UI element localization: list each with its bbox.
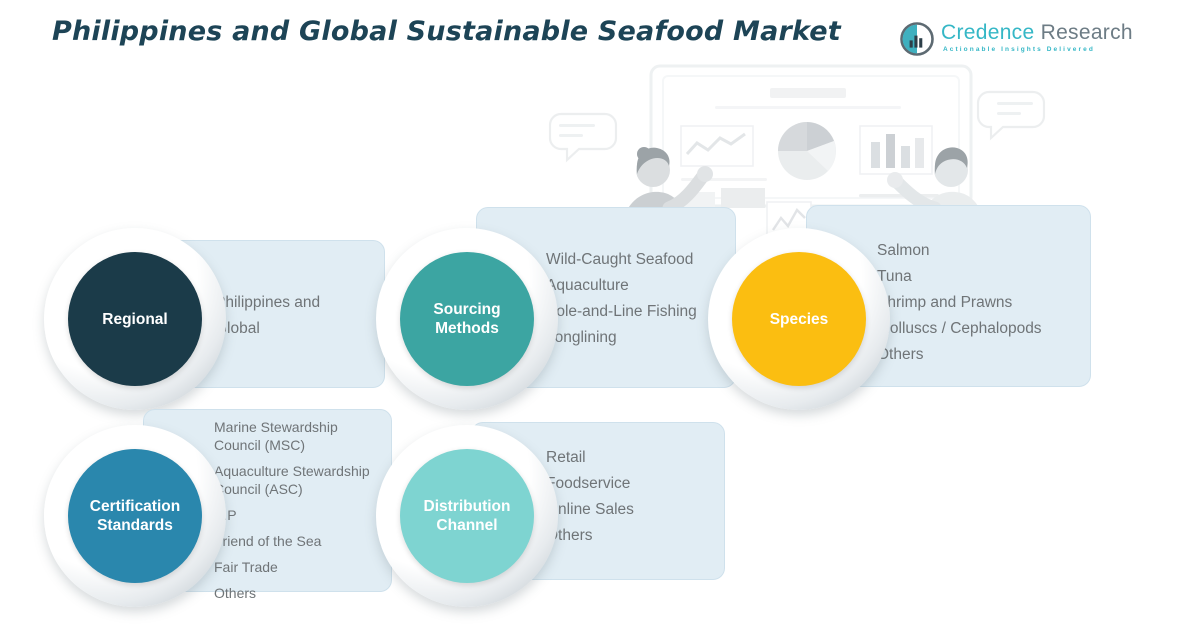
card-list-species: Salmon Tuna Shrimp and Prawns Molluscs /… [877, 238, 1092, 368]
brand-logo: Credence Research Actionable Insights De… [900, 20, 1095, 62]
list-item: Global [215, 316, 385, 342]
page-title: Philippines and Global Sustainable Seafo… [52, 16, 841, 47]
bar-chart-circle-icon [900, 22, 934, 56]
list-item: Others [877, 342, 1092, 368]
list-item: Foodservice [546, 471, 736, 497]
bubble-certification-standards-circle[interactable]: Certification Standards [68, 449, 202, 583]
list-item: Others [546, 523, 736, 549]
infographic-canvas: Philippines and Global Sustainable Seafo… [0, 0, 1180, 626]
logo-tagline: Actionable Insights Delivered [943, 46, 1095, 53]
list-item: Retail [546, 445, 736, 471]
bubble-species-circle[interactable]: Species [732, 252, 866, 386]
list-item: Philippines and [215, 290, 385, 316]
list-item: Online Sales [546, 497, 736, 523]
bubble-distribution-channel[interactable]: Distribution Channel [376, 425, 558, 607]
bubble-regional[interactable]: Regional [44, 228, 226, 410]
list-item: Shrimp and Prawns [877, 290, 1092, 316]
bubble-sourcing-methods-circle[interactable]: Sourcing Methods [400, 252, 534, 386]
bubble-label: Regional [102, 310, 167, 329]
bubble-label: Distribution [424, 497, 511, 516]
logo-word-research: Research [1041, 21, 1133, 44]
bubble-certification-standards[interactable]: Certification Standards [44, 425, 226, 607]
bubble-label: Species [770, 310, 829, 329]
card-list-distribution-channel: Retail Foodservice Online Sales Others [546, 445, 736, 549]
bubble-label: Certification [90, 497, 180, 516]
list-item: Tuna [877, 264, 1092, 290]
bubble-label: Standards [90, 516, 180, 535]
bubble-label: Sourcing [433, 300, 500, 319]
list-item: Molluscs / Cephalopods [877, 316, 1092, 342]
logo-wordmark: Credence Research [941, 21, 1133, 45]
bubble-label: Channel [424, 516, 511, 535]
bubble-distribution-channel-circle[interactable]: Distribution Channel [400, 449, 534, 583]
logo-word-credence: Credence [941, 21, 1034, 44]
bubble-sourcing-methods[interactable]: Sourcing Methods [376, 228, 558, 410]
card-list-regional: Philippines and Global [215, 290, 385, 342]
list-item: Salmon [877, 238, 1092, 264]
bubble-regional-circle[interactable]: Regional [68, 252, 202, 386]
bubble-label: Methods [433, 319, 500, 338]
bubble-species[interactable]: Species [708, 228, 890, 410]
